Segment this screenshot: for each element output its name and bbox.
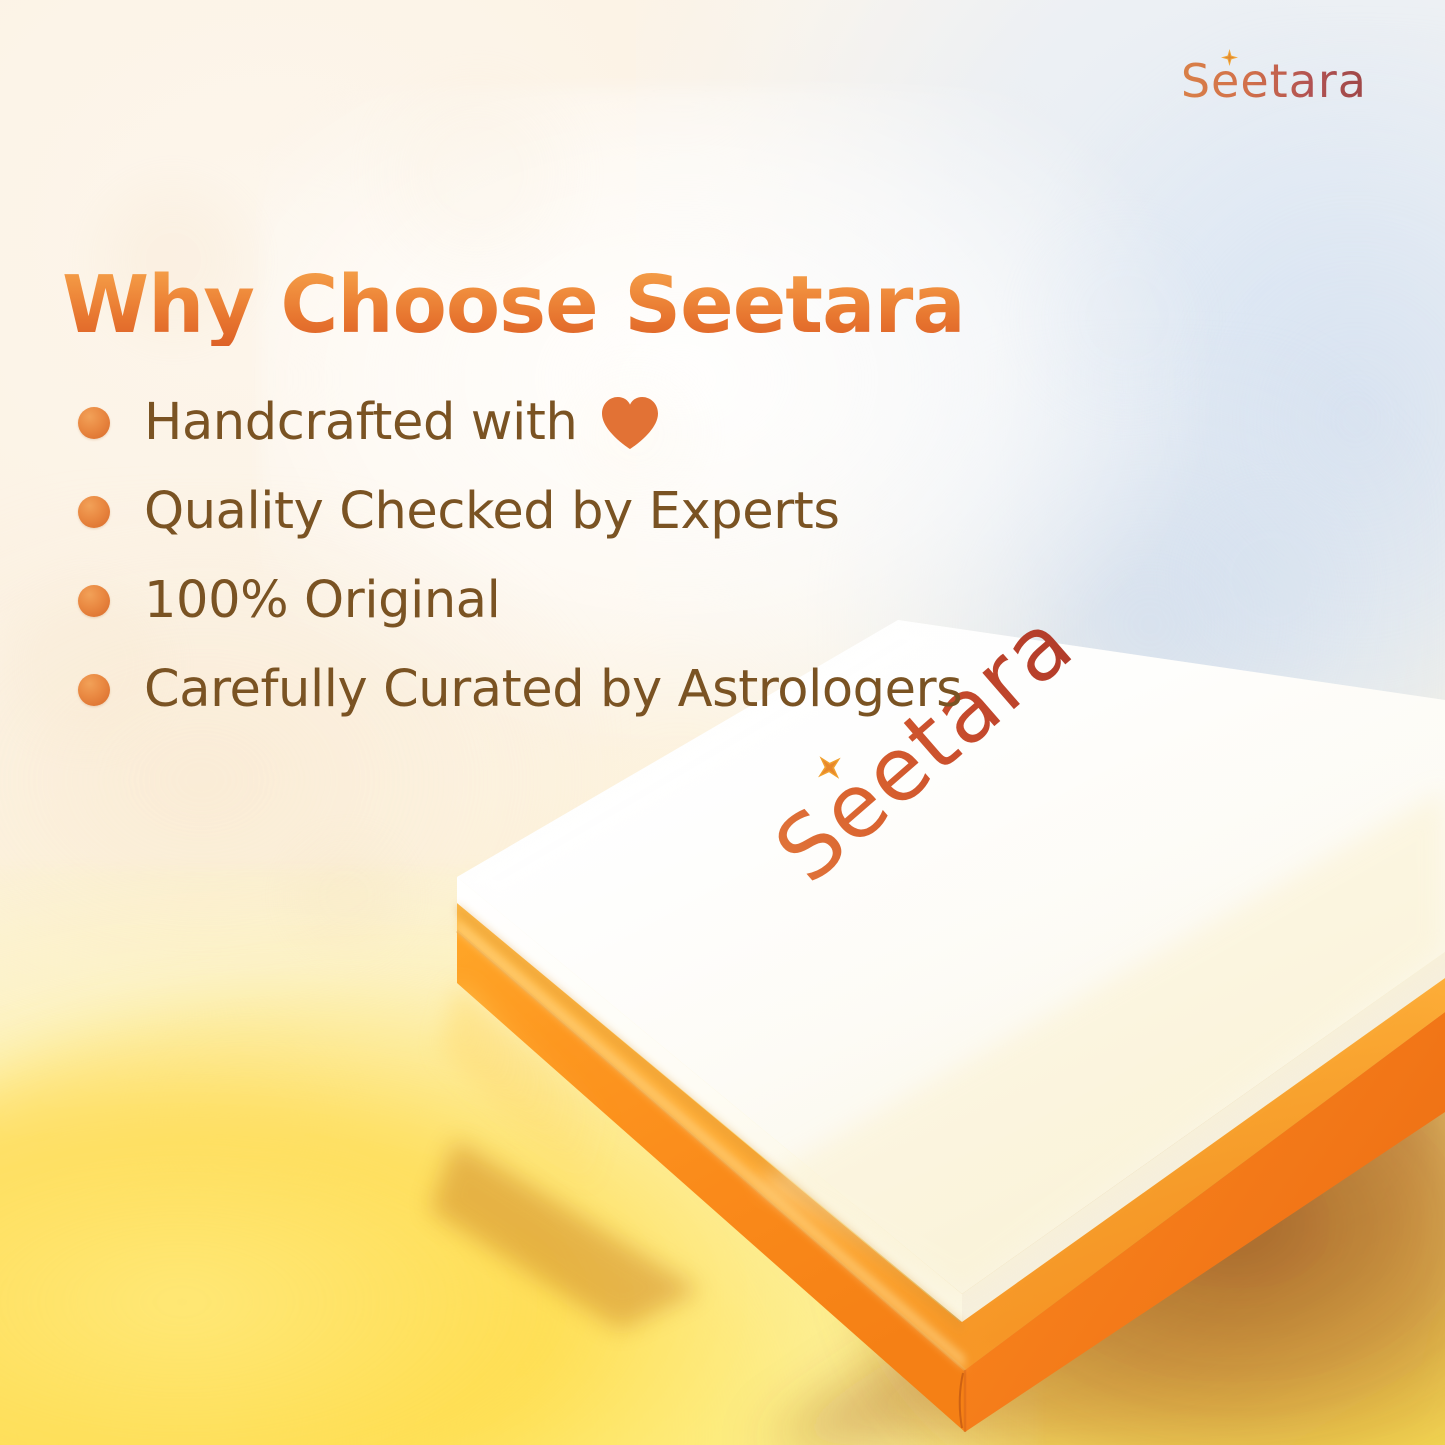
bullet-dot-icon <box>78 585 110 617</box>
poster-canvas: Seetara Seetara Why Choose Seetara Handc… <box>0 0 1445 1445</box>
bullet-dot-icon <box>78 674 110 706</box>
page-title: Why Choose Seetara <box>62 265 965 346</box>
list-item: Handcrafted with <box>78 378 962 467</box>
list-item: Carefully Curated by Astrologers <box>78 645 962 734</box>
brand-logo-text: Seetara <box>1181 54 1367 108</box>
benefits-list: Handcrafted with Quality Checked by Expe… <box>78 378 962 734</box>
benefit-label: Handcrafted with <box>144 397 577 448</box>
benefit-label: Quality Checked by Experts <box>144 486 840 537</box>
bullet-dot-icon <box>78 496 110 528</box>
benefit-label: 100% Original <box>144 575 500 626</box>
benefit-label: Carefully Curated by Astrologers <box>144 664 962 715</box>
list-item: 100% Original <box>78 556 962 645</box>
brand-logo[interactable]: Seetara <box>1181 58 1367 104</box>
bullet-dot-icon <box>78 407 110 439</box>
heart-icon <box>599 395 661 451</box>
list-item: Quality Checked by Experts <box>78 467 962 556</box>
